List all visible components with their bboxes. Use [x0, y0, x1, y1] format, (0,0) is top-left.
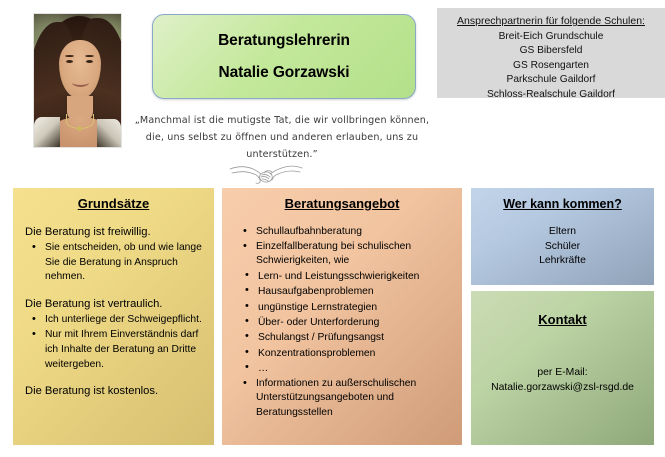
offer-subitem: Hausaufgabenproblemen: [258, 284, 454, 299]
photo-eye-left: [66, 60, 73, 63]
principles-bullet-list: Ich unterliege der Schweigepflicht. Nur …: [23, 313, 204, 372]
photo-pendant: [77, 126, 82, 131]
spacer: [23, 373, 204, 384]
who-panel: Wer kann kommen? Eltern Schüler Lehrkräf…: [471, 188, 654, 285]
school-item: Parkschule Gaildorf: [437, 73, 665, 87]
offer-heading: Beratungsangebot: [230, 196, 454, 211]
school-item: GS Bibersfeld: [437, 44, 665, 58]
contact-panel: Kontakt per E-Mail: Natalie.gorzawski@zs…: [471, 291, 654, 445]
quote-text: „Manchmal ist die mutigste Tat, die wir …: [132, 112, 432, 163]
portrait-photo: [33, 13, 122, 148]
photo-eye-right: [86, 60, 93, 63]
offer-subitem: Über- oder Unterforderung: [258, 315, 454, 330]
offer-subitem: Konzentrationsproblemen: [258, 346, 454, 361]
offer-list-after: Informationen zu außerschulischen Unters…: [230, 377, 454, 421]
principle-lead: Die Beratung ist vertraulich.: [25, 297, 204, 312]
contact-email[interactable]: Natalie.gorzawski@zsl-rsgd.de: [471, 380, 654, 395]
photo-clothing-right: [97, 119, 121, 147]
contact-method: per E-Mail:: [471, 365, 654, 380]
offer-subitem: ungünstige Lernstrategien: [258, 300, 454, 315]
offer-subitem: …: [258, 361, 454, 376]
offer-list: Schullaufbahnberatung Einzelfallberatung…: [230, 225, 454, 269]
school-item: Schloss-Realschule Gaildorf: [437, 88, 665, 102]
who-heading: Wer kann kommen?: [471, 197, 654, 211]
principles-heading: Grundsätze: [23, 196, 204, 211]
principles-bullet-list: Sie entscheiden, ob und wie lange Sie di…: [23, 241, 204, 285]
title-box: Beratungslehrerin Natalie Gorzawski: [152, 14, 416, 99]
offer-item: Einzelfallberatung bei schulischen Schwi…: [256, 240, 454, 269]
principle-bullet: Ich unterliege der Schweigepflicht.: [45, 313, 204, 328]
school-item: GS Rosengarten: [437, 59, 665, 73]
offer-subitem: Lern- und Leistungsschwierigkeiten: [258, 269, 454, 284]
offer-subitem: Schulangst / Prüfungsangst: [258, 330, 454, 345]
offer-sublist: Lern- und Leistungsschwierigkeiten Hausa…: [230, 269, 454, 377]
schools-box: Ansprechpartnerin für folgende Schulen: …: [437, 8, 665, 98]
offer-panel: Beratungsangebot Schullaufbahnberatung E…: [222, 188, 462, 445]
title-name: Natalie Gorzawski: [219, 64, 350, 82]
who-item: Lehrkräfte: [471, 254, 654, 269]
who-item: Schüler: [471, 240, 654, 255]
photo-smile: [72, 78, 89, 87]
who-item: Eltern: [471, 225, 654, 240]
handshake-icon: [228, 160, 304, 188]
schools-heading: Ansprechpartnerin für folgende Schulen:: [437, 15, 665, 27]
offer-item: Informationen zu außerschulischen Unters…: [256, 377, 454, 421]
principle-bullet: Nur mit Ihrem Einverständnis darf ich In…: [45, 328, 204, 372]
principles-panel: Grundsätze Die Beratung ist freiwillig. …: [13, 188, 214, 445]
schools-list: Breit-Eich Grundschule GS Bibersfeld GS …: [437, 30, 665, 102]
principle-lead: Die Beratung ist kostenlos.: [25, 384, 204, 399]
principle-lead: Die Beratung ist freiwillig.: [25, 225, 204, 240]
title-role: Beratungslehrerin: [218, 32, 350, 50]
spacer: [23, 286, 204, 297]
principle-bullet: Sie entscheiden, ob und wie lange Sie di…: [45, 241, 204, 285]
photo-eyebrow-right: [85, 55, 94, 57]
photo-eyebrow-left: [65, 55, 74, 57]
contact-heading: Kontakt: [471, 312, 654, 327]
photo-clothing-left: [34, 117, 60, 147]
offer-item: Schullaufbahnberatung: [256, 225, 454, 240]
school-item: Breit-Eich Grundschule: [437, 30, 665, 44]
